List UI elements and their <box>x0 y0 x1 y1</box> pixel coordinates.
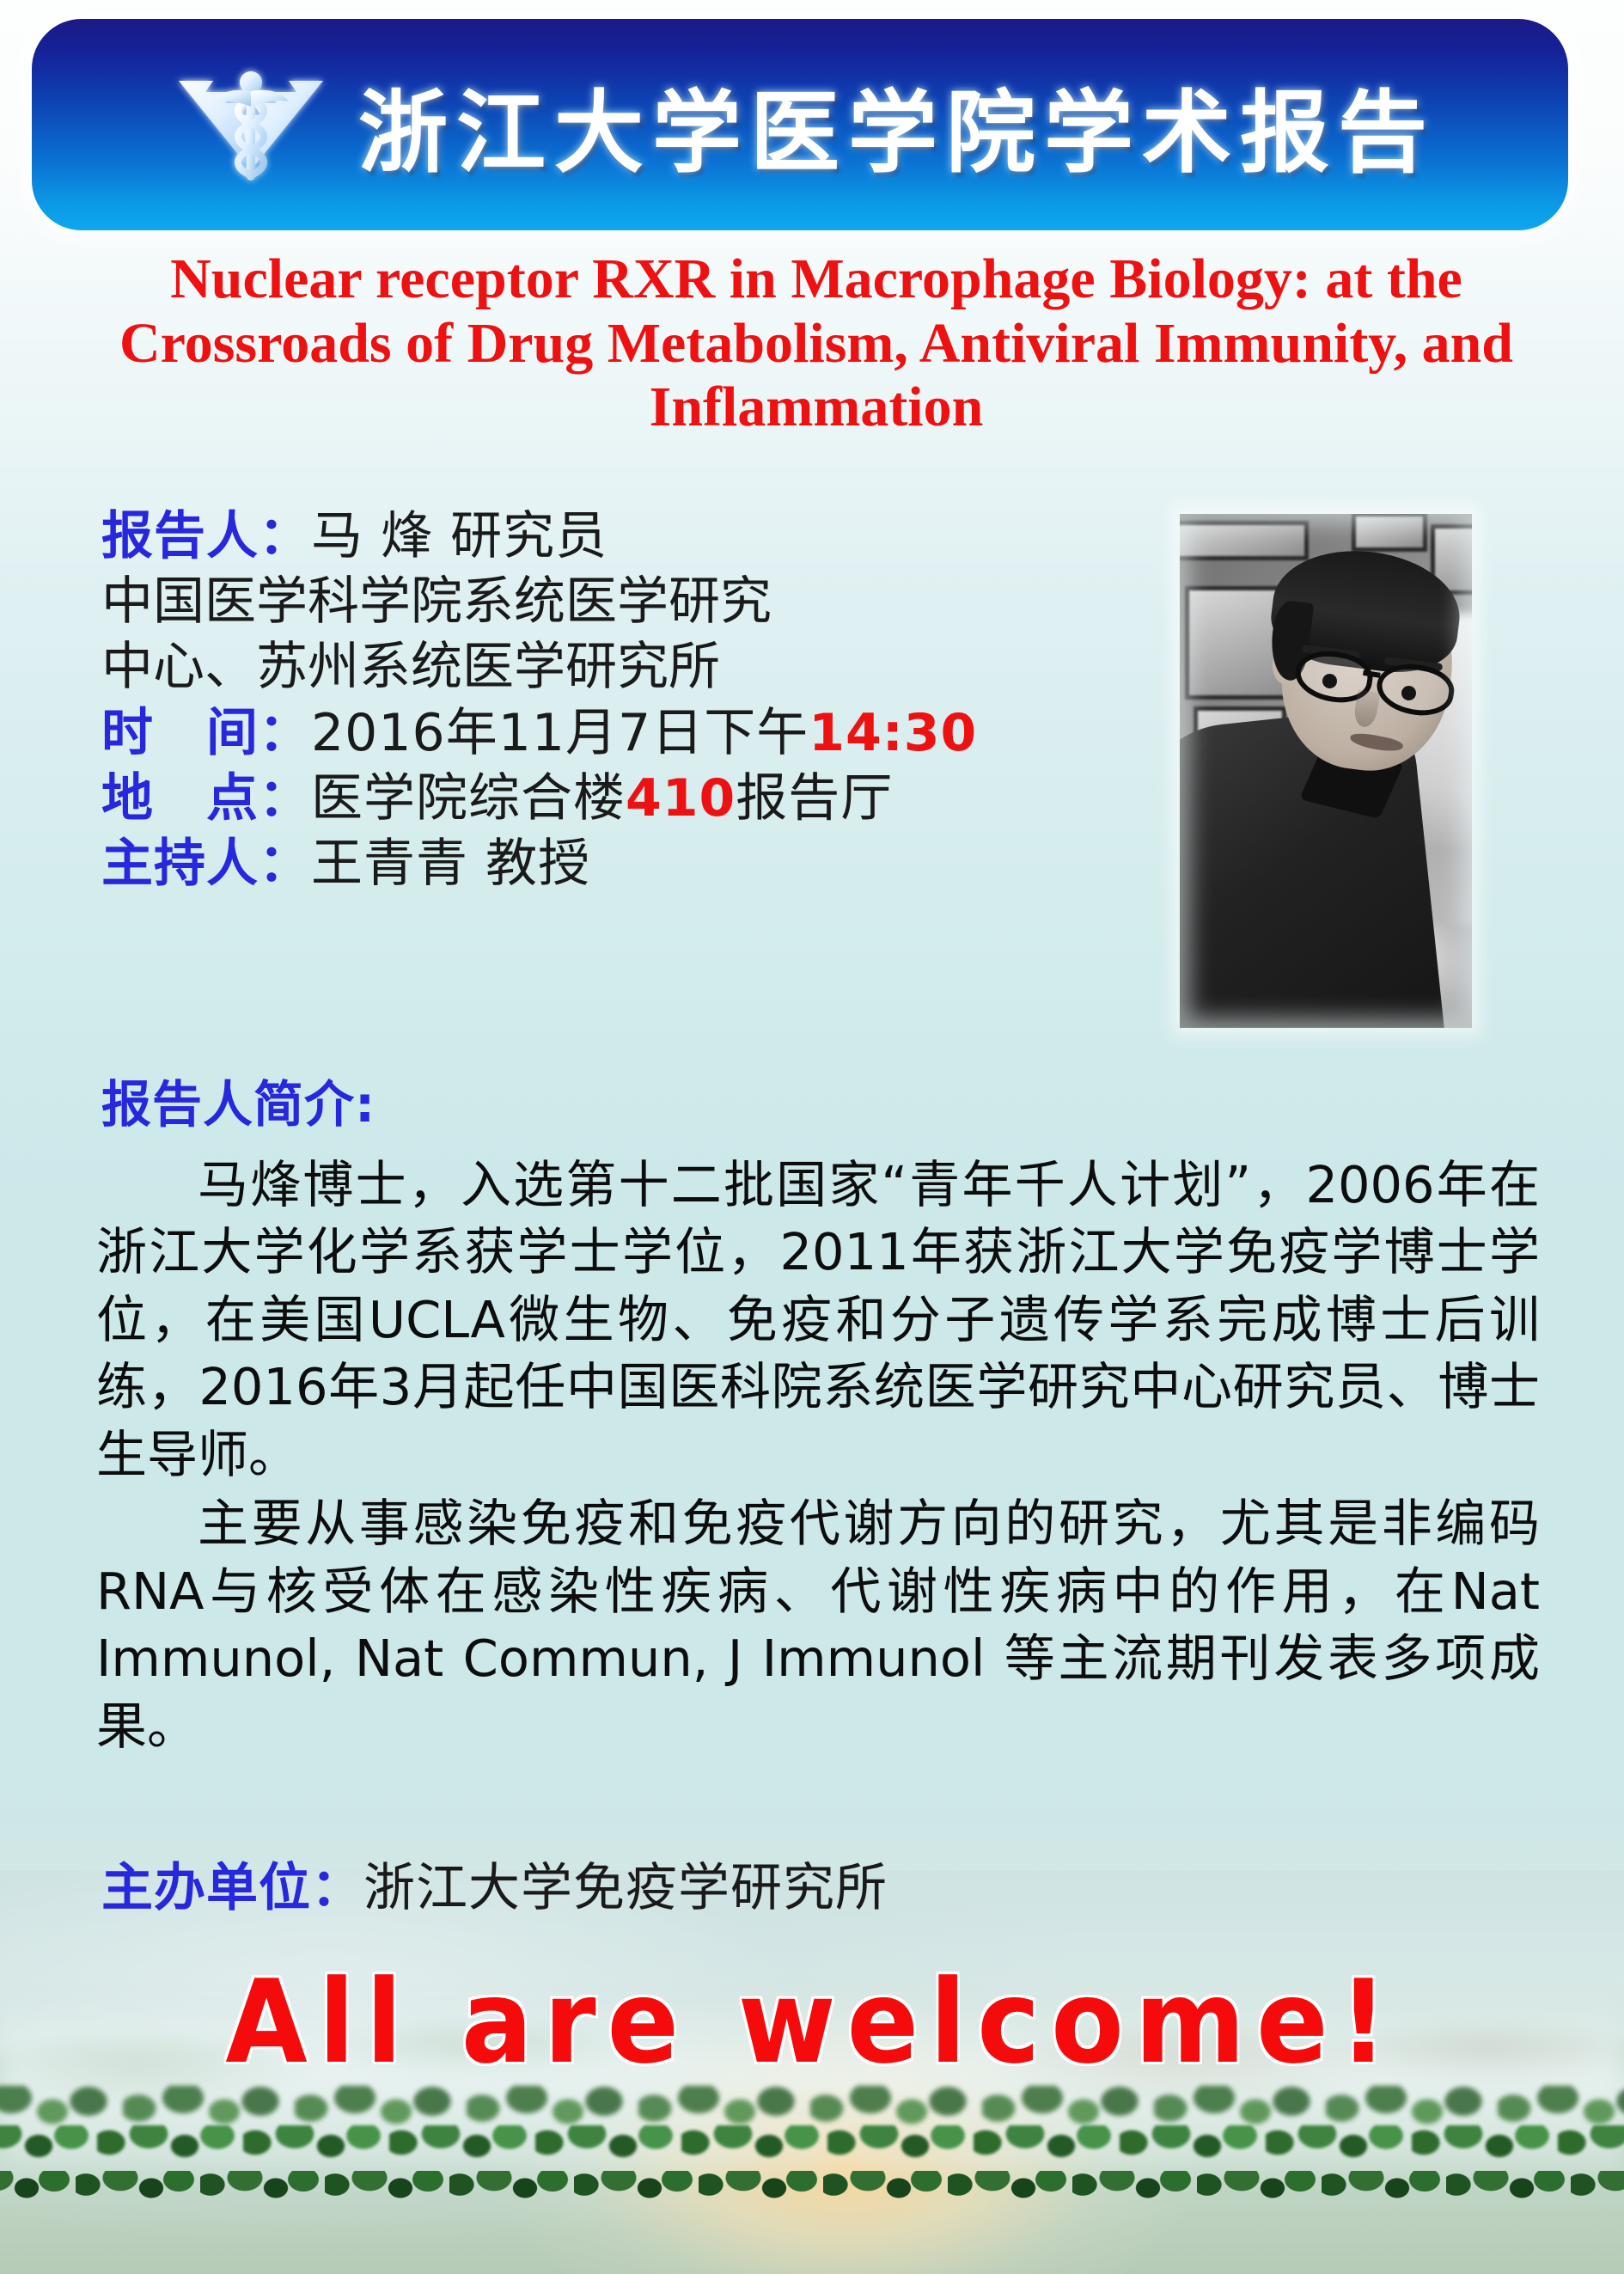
place-room-number: 410 <box>626 768 736 828</box>
speaker-name: 马 烽 研究员 <box>311 506 607 566</box>
time-label: 时 间： <box>101 703 311 763</box>
caduceus-medical-logo-icon <box>165 41 337 205</box>
event-details: 报告人：马 烽 研究员 中国医学科学院系统医学研究 中心、苏州系统医学研究所 时… <box>101 504 1150 896</box>
host-name: 王青青 教授 <box>311 834 590 894</box>
speaker-line: 报告人：马 烽 研究员 <box>101 504 1150 569</box>
seminar-poster: 浙江大学医学院学术报告 Nuclear receptor RXR in Macr… <box>0 0 1624 2274</box>
affiliation-line-2: 中心、苏州系统医学研究所 <box>101 634 1150 700</box>
foliage-front-layer <box>0 2171 1624 2274</box>
header-banner: 浙江大学医学院学术报告 <box>32 19 1568 230</box>
banner-title: 浙江大学医学院学术报告 <box>358 60 1436 190</box>
host-label: 主持人： <box>101 834 311 894</box>
bio-paragraph-1: 马烽博士，入选第十二批国家“青年千人计划”，2006年在浙江大学化学系获学士学位… <box>96 1152 1540 1488</box>
time-date: 2016年11月7日下午 <box>311 703 809 763</box>
time-clock: 14:30 <box>809 703 977 763</box>
place-prefix: 医学院综合楼 <box>311 768 626 828</box>
organizer-line: 主办单位：浙江大学免疫学研究所 <box>101 1846 888 1921</box>
bio-paragraph-2: 主要从事感染免疫和免疫代谢方向的研究，尤其是非编码RNA与核受体在感染性疾病、代… <box>96 1490 1540 1760</box>
speaker-label: 报告人： <box>101 506 311 566</box>
place-label: 地 点： <box>101 768 311 828</box>
place-line: 地 点：医学院综合楼410报告厅 <box>101 766 1150 831</box>
bio-heading: 报告人简介: <box>101 1064 375 1136</box>
organizer-label: 主办单位： <box>101 1858 363 1918</box>
place-suffix: 报告厅 <box>736 768 893 828</box>
time-line: 时 间：2016年11月7日下午14:30 <box>101 700 1150 766</box>
speaker-portrait-photo <box>1180 514 1472 1028</box>
bio-body: 马烽博士，入选第十二批国家“青年千人计划”，2006年在浙江大学化学系获学士学位… <box>96 1152 1540 1762</box>
organizer-name: 浙江大学免疫学研究所 <box>363 1858 888 1918</box>
affiliation-line-1: 中国医学科学院系统医学研究 <box>101 569 1150 634</box>
photo-soft-edge-vignette <box>1180 514 1472 1028</box>
welcome-message: All are welcome! <box>65 1955 1560 2089</box>
talk-title: Nuclear receptor RXR in Macrophage Biolo… <box>95 248 1538 440</box>
host-line: 主持人：王青青 教授 <box>101 831 1150 896</box>
